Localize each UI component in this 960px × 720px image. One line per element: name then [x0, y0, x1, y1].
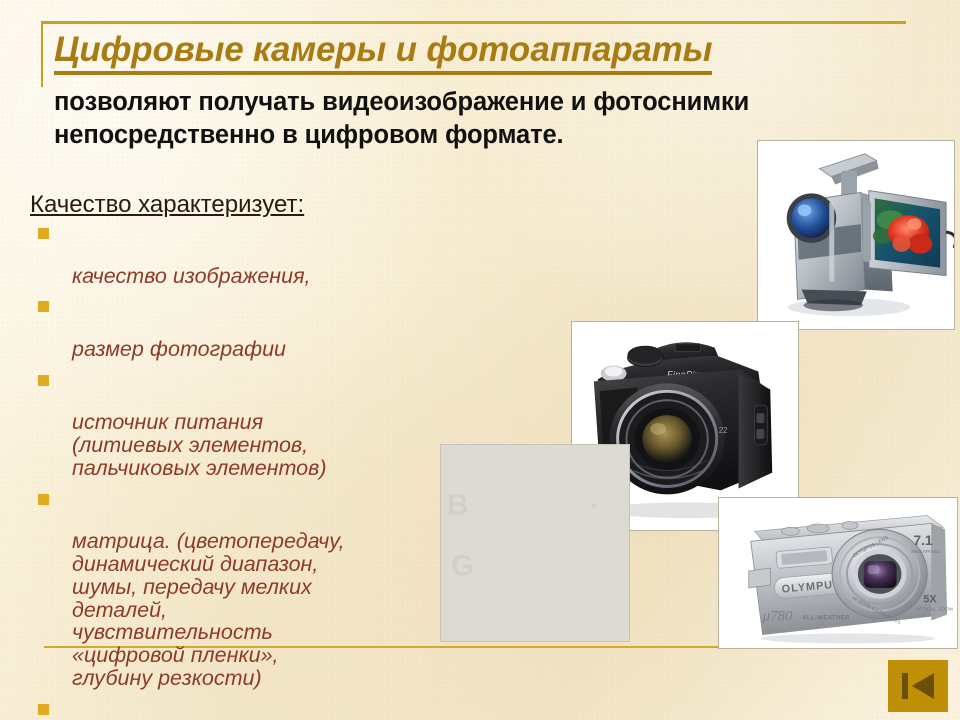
- quality-section-heading: Качество характеризует:: [30, 191, 304, 219]
- square-bullet-icon: [38, 494, 49, 505]
- previous-slide-button[interactable]: [888, 660, 948, 712]
- presentation-slide: Цифровые камеры и фотоаппараты позволяют…: [0, 0, 960, 720]
- olympus-compact-camera-photo: OLYMPUS OLYMPUS LENS AF ZOOM 6.4-32mm 1:…: [718, 497, 958, 649]
- list-item-label: источник питания (литиевых элементов, па…: [72, 410, 327, 480]
- svg-text:22: 22: [719, 426, 728, 435]
- slide-title: Цифровые камеры и фотоаппараты: [54, 32, 712, 75]
- list-item-label: матрица. (цветопередачу, динамический ди…: [72, 529, 345, 690]
- svg-text:7.1: 7.1: [913, 532, 933, 548]
- svg-text:OPTICAL ZOOM: OPTICAL ZOOM: [915, 607, 953, 612]
- list-item-label: качество изображения,: [72, 264, 311, 288]
- left-rule-decoration: [41, 21, 43, 87]
- list-item: размер фотографии: [30, 292, 450, 360]
- halftone-dog-print-photo: B G .: [440, 444, 630, 642]
- svg-text:5X: 5X: [923, 594, 937, 606]
- top-rule-decoration: [42, 21, 906, 24]
- svg-text:ALL-WEATHER: ALL-WEATHER: [802, 616, 850, 622]
- skip-to-start-icon: [900, 671, 936, 701]
- square-bullet-icon: [38, 375, 49, 386]
- square-bullet-icon: [38, 704, 49, 715]
- list-item-label: размер фотографии: [72, 337, 286, 361]
- quality-bullet-list: качество изображения, размер фотографии …: [30, 219, 450, 720]
- svg-text:μ780: μ780: [762, 609, 793, 625]
- list-item: вспышка. (освещение, подсветка): [30, 695, 450, 720]
- digital-camcorder-photo: [757, 140, 955, 330]
- list-item: качество изображения,: [30, 219, 450, 287]
- list-item: источник питания (литиевых элементов, па…: [30, 366, 450, 480]
- square-bullet-icon: [38, 228, 49, 239]
- title-block: Цифровые камеры и фотоаппараты позволяют…: [54, 32, 924, 153]
- list-item: матрица. (цветопередачу, динамический ди…: [30, 485, 450, 690]
- svg-text:MEGAPIXEL: MEGAPIXEL: [911, 549, 940, 554]
- square-bullet-icon: [38, 301, 49, 312]
